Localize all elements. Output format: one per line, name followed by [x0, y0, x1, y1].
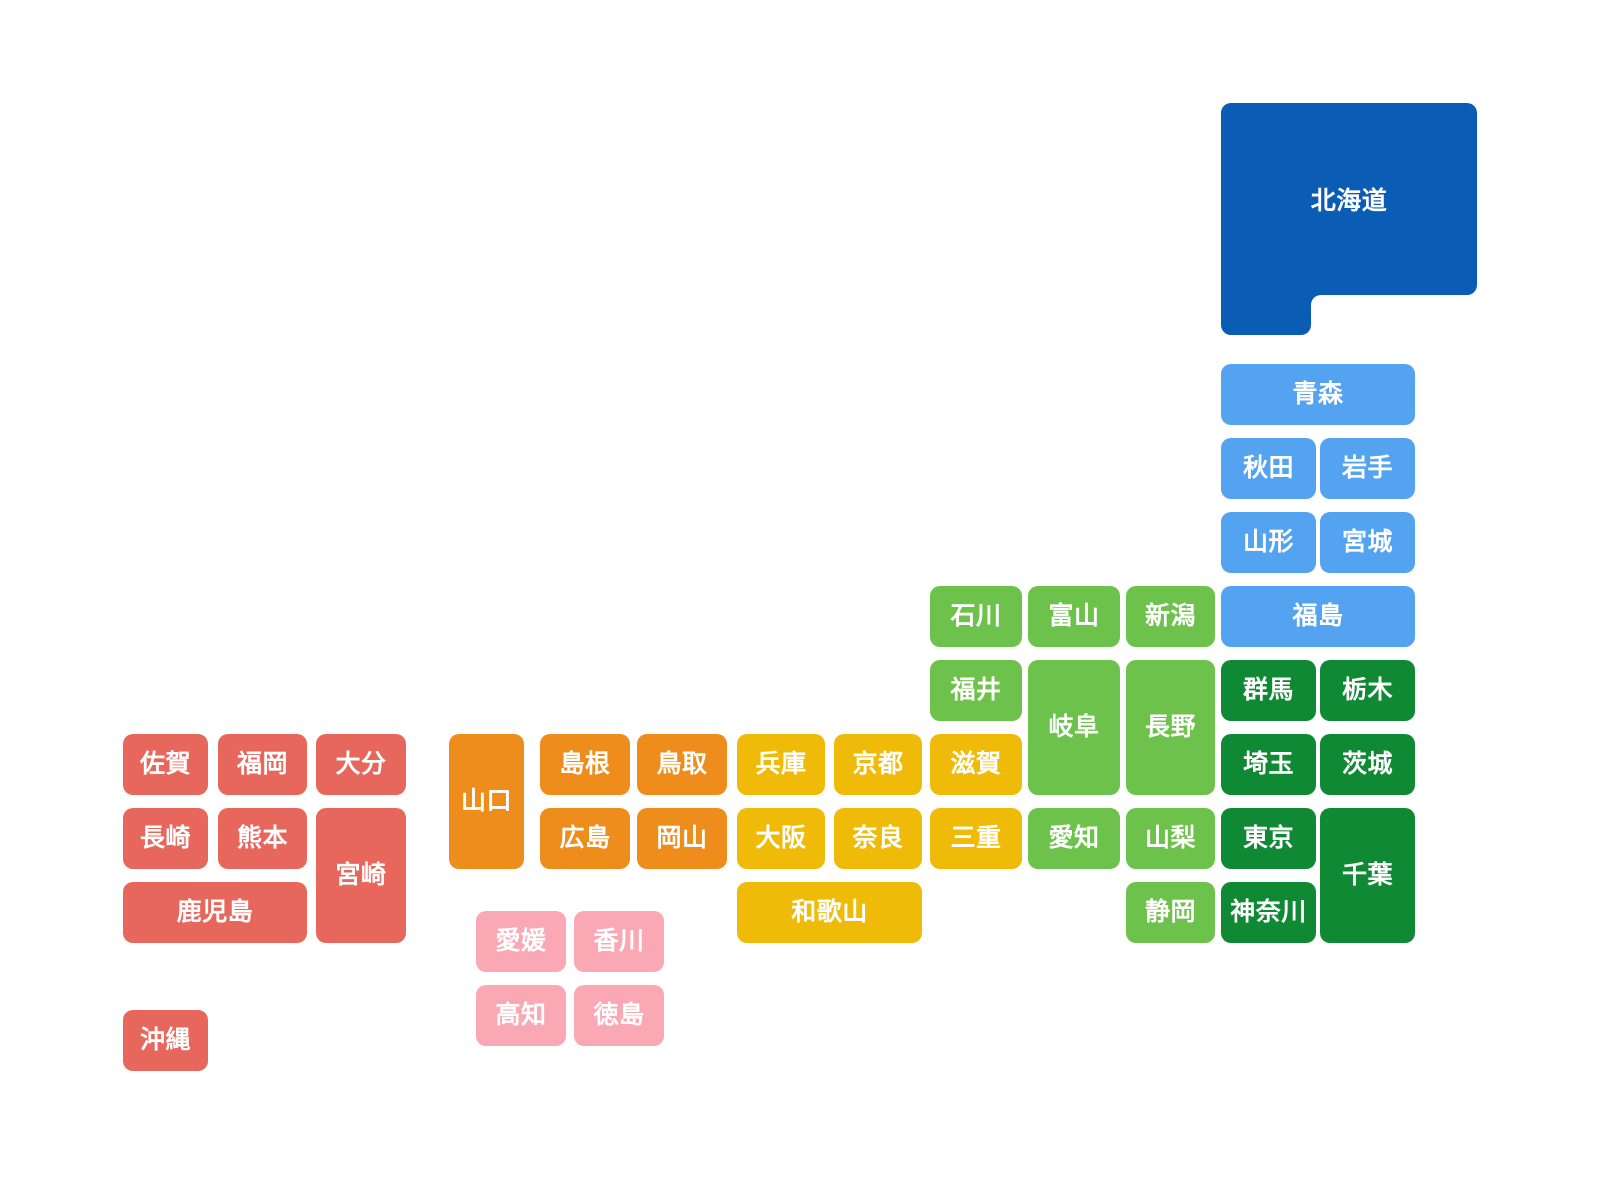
prefecture-shimane[interactable]: 島根	[540, 734, 630, 795]
prefecture-label-tottori: 鳥取	[656, 752, 707, 777]
prefecture-label-tokushima: 徳島	[593, 1003, 644, 1028]
prefecture-label-mie: 三重	[950, 826, 1001, 851]
prefecture-kyoto[interactable]: 京都	[834, 734, 922, 795]
prefecture-label-fukuoka: 福岡	[237, 752, 288, 777]
prefecture-ishikawa[interactable]: 石川	[930, 586, 1022, 647]
prefecture-label-akita: 秋田	[1243, 456, 1294, 481]
prefecture-label-aichi: 愛知	[1048, 826, 1099, 851]
prefecture-label-yamanashi: 山梨	[1145, 826, 1196, 851]
prefecture-saitama[interactable]: 埼玉	[1221, 734, 1316, 795]
prefecture-label-kumamoto: 熊本	[237, 826, 288, 851]
prefecture-tokyo[interactable]: 東京	[1221, 808, 1316, 869]
prefecture-label-osaka: 大阪	[755, 826, 806, 851]
prefecture-yamaguchi[interactable]: 山口	[449, 734, 524, 869]
prefecture-label-kanagawa: 神奈川	[1230, 900, 1307, 925]
prefecture-tochigi[interactable]: 栃木	[1320, 660, 1415, 721]
prefecture-label-fukui: 福井	[950, 678, 1001, 703]
prefecture-kochi[interactable]: 高知	[476, 985, 566, 1046]
prefecture-miyagi[interactable]: 宮城	[1320, 512, 1415, 573]
prefecture-label-shiga: 滋賀	[950, 752, 1001, 777]
prefecture-ehime[interactable]: 愛媛	[476, 911, 566, 972]
prefecture-hokkaido[interactable]	[1221, 103, 1477, 335]
prefecture-fukuoka[interactable]: 福岡	[218, 734, 307, 795]
prefecture-label-shimane: 島根	[559, 752, 610, 777]
prefecture-label-aomori: 青森	[1292, 382, 1343, 407]
prefecture-kanagawa[interactable]: 神奈川	[1221, 882, 1316, 943]
prefecture-kumamoto[interactable]: 熊本	[218, 808, 307, 869]
prefecture-aichi[interactable]: 愛知	[1028, 808, 1120, 869]
prefecture-label-miyazaki: 宮崎	[335, 863, 386, 888]
prefecture-label-nara: 奈良	[852, 826, 903, 851]
prefecture-label-shizuoka: 静岡	[1145, 900, 1196, 925]
prefecture-label-ehime: 愛媛	[495, 929, 546, 954]
prefecture-nagasaki[interactable]: 長崎	[123, 808, 208, 869]
prefecture-label-yamaguchi: 山口	[461, 789, 512, 814]
prefecture-tokushima[interactable]: 徳島	[574, 985, 664, 1046]
prefecture-hyogo[interactable]: 兵庫	[737, 734, 825, 795]
prefecture-label-okayama: 岡山	[656, 826, 707, 851]
prefecture-tottori[interactable]: 鳥取	[637, 734, 727, 795]
prefecture-label-ibaraki: 茨城	[1342, 752, 1393, 777]
prefecture-nara[interactable]: 奈良	[834, 808, 922, 869]
prefecture-kagawa[interactable]: 香川	[574, 911, 664, 972]
prefecture-label-niigata: 新潟	[1145, 604, 1196, 629]
prefecture-label-miyagi: 宮城	[1342, 530, 1393, 555]
prefecture-gifu[interactable]: 岐阜	[1028, 660, 1120, 795]
prefecture-shiga[interactable]: 滋賀	[930, 734, 1022, 795]
prefecture-saga[interactable]: 佐賀	[123, 734, 208, 795]
prefecture-label-wakayama: 和歌山	[791, 900, 868, 925]
prefecture-label-gunma: 群馬	[1243, 678, 1294, 703]
prefecture-label-fukushima: 福島	[1292, 604, 1343, 629]
prefecture-niigata[interactable]: 新潟	[1126, 586, 1215, 647]
prefecture-label-tokyo: 東京	[1243, 826, 1294, 851]
prefecture-label-hyogo: 兵庫	[755, 752, 806, 777]
prefecture-fukushima[interactable]: 福島	[1221, 586, 1415, 647]
prefecture-label-iwate: 岩手	[1342, 456, 1393, 481]
prefecture-label-yamagata: 山形	[1243, 530, 1294, 555]
japan-prefecture-map: 北海道青森秋田岩手山形宮城福島群馬栃木埼玉茨城東京千葉神奈川石川富山新潟福井岐阜…	[0, 0, 1600, 1200]
prefecture-wakayama[interactable]: 和歌山	[737, 882, 922, 943]
prefecture-yamanashi[interactable]: 山梨	[1126, 808, 1215, 869]
prefecture-label-oita: 大分	[335, 752, 386, 777]
prefecture-ibaraki[interactable]: 茨城	[1320, 734, 1415, 795]
prefecture-label-saitama: 埼玉	[1243, 752, 1294, 777]
prefecture-toyama[interactable]: 富山	[1028, 586, 1120, 647]
prefecture-label-nagasaki: 長崎	[140, 826, 191, 851]
prefecture-fukui[interactable]: 福井	[930, 660, 1022, 721]
prefecture-mie[interactable]: 三重	[930, 808, 1022, 869]
prefecture-label-nagano: 長野	[1145, 715, 1196, 740]
prefecture-label-kyoto: 京都	[852, 752, 903, 777]
prefecture-label-hiroshima: 広島	[559, 826, 610, 851]
prefecture-akita[interactable]: 秋田	[1221, 438, 1316, 499]
prefecture-okayama[interactable]: 岡山	[637, 808, 727, 869]
prefecture-label-saga: 佐賀	[140, 752, 191, 777]
prefecture-okinawa[interactable]: 沖縄	[123, 1010, 208, 1071]
prefecture-chiba[interactable]: 千葉	[1320, 808, 1415, 943]
prefecture-label-chiba: 千葉	[1342, 863, 1393, 888]
prefecture-label-toyama: 富山	[1048, 604, 1099, 629]
prefecture-kagoshima[interactable]: 鹿児島	[123, 882, 307, 943]
prefecture-label-ishikawa: 石川	[950, 604, 1001, 629]
prefecture-miyazaki[interactable]: 宮崎	[316, 808, 406, 943]
prefecture-oita[interactable]: 大分	[316, 734, 406, 795]
prefecture-nagano[interactable]: 長野	[1126, 660, 1215, 795]
prefecture-gunma[interactable]: 群馬	[1221, 660, 1316, 721]
prefecture-aomori[interactable]: 青森	[1221, 364, 1415, 425]
prefecture-label-tochigi: 栃木	[1342, 678, 1393, 703]
prefecture-label-okinawa: 沖縄	[140, 1028, 191, 1053]
prefecture-label-kagawa: 香川	[593, 929, 644, 954]
prefecture-yamagata[interactable]: 山形	[1221, 512, 1316, 573]
prefecture-label-kochi: 高知	[495, 1003, 546, 1028]
prefecture-label-gifu: 岐阜	[1048, 715, 1099, 740]
prefecture-iwate[interactable]: 岩手	[1320, 438, 1415, 499]
prefecture-label-kagoshima: 鹿児島	[177, 900, 254, 925]
prefecture-shizuoka[interactable]: 静岡	[1126, 882, 1215, 943]
prefecture-osaka[interactable]: 大阪	[737, 808, 825, 869]
prefecture-hiroshima[interactable]: 広島	[540, 808, 630, 869]
